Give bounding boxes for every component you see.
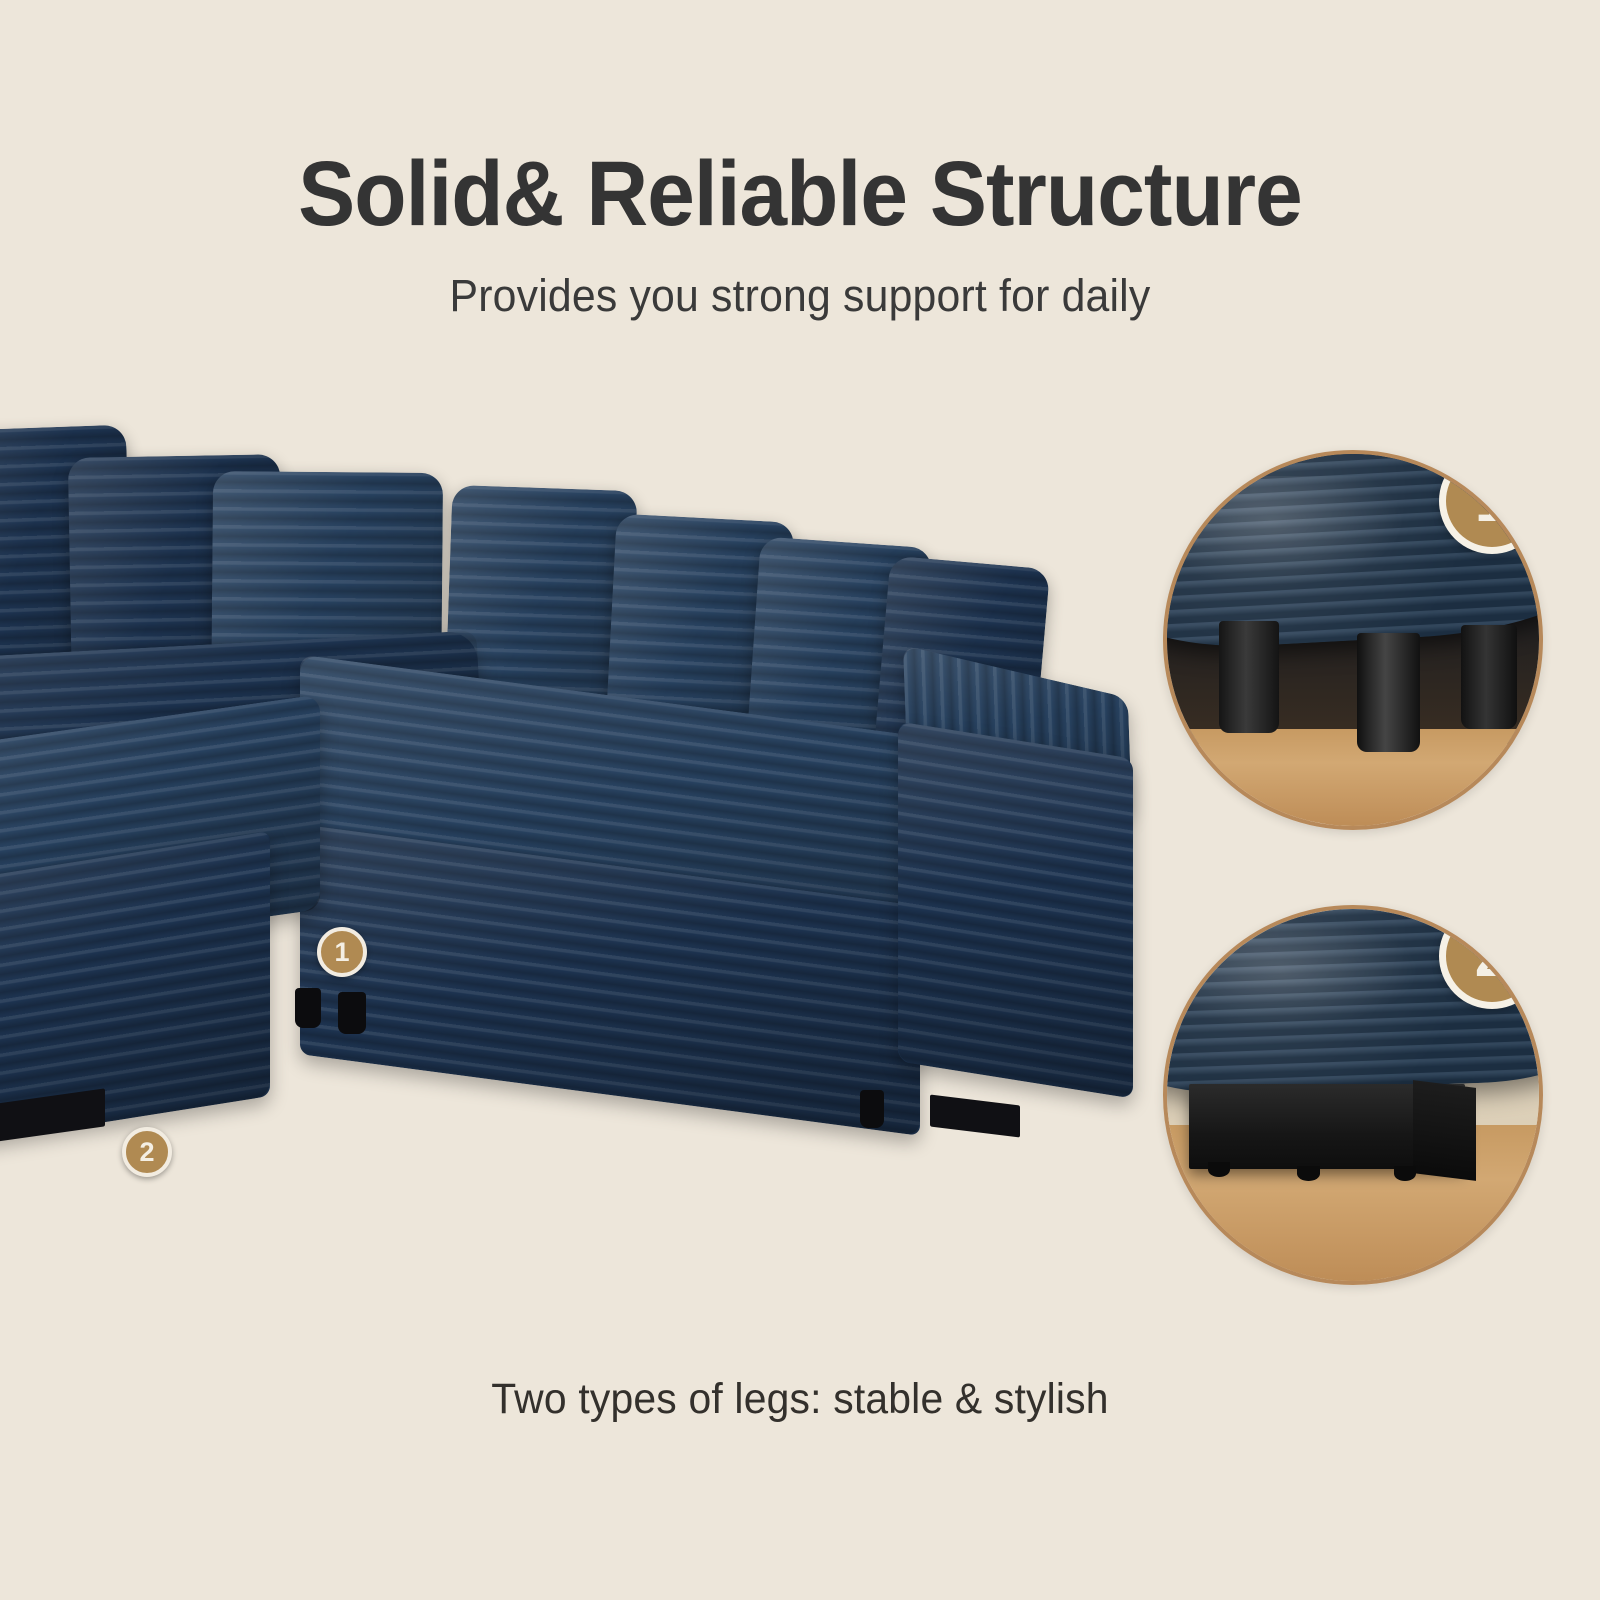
page-subtitle: Provides you strong support for daily — [40, 270, 1560, 322]
badge-label: 1 — [1475, 470, 1509, 532]
detail-circle-cylinder-legs[interactable]: 1 — [1163, 450, 1543, 830]
detail2-number-badge: 2 — [1439, 905, 1543, 1009]
detail2-plinth-side — [1413, 1080, 1476, 1181]
detail1-leg-left — [1219, 621, 1279, 733]
plinth-base-right — [930, 1094, 1020, 1137]
detail2-foot-2 — [1297, 1166, 1319, 1181]
leg-cylinder-1 — [295, 988, 321, 1028]
leg-cylinder-3 — [860, 1090, 884, 1128]
marker-plinth-base[interactable]: 2 — [122, 1127, 172, 1177]
detail1-floor — [1167, 729, 1539, 826]
detail1-fur-highlight — [1182, 476, 1405, 588]
marker-label: 1 — [334, 937, 349, 968]
detail1-number-badge: 1 — [1439, 450, 1543, 554]
leg-cylinder-2 — [338, 992, 366, 1034]
detail2-foot-3 — [1394, 1166, 1416, 1181]
page-title: Solid& Reliable Structure — [56, 148, 1544, 242]
armrest-right-face — [898, 721, 1133, 1098]
marker-label: 2 — [139, 1137, 154, 1168]
detail2-foot-1 — [1208, 1162, 1230, 1177]
detail1-leg-mid — [1357, 633, 1420, 752]
product-infographic: Solid& Reliable Structure Provides you s… — [0, 0, 1600, 1600]
marker-cylinder-legs[interactable]: 1 — [317, 927, 367, 977]
detail-circle-plinth-base[interactable]: 2 — [1163, 905, 1543, 1285]
footer-caption: Two types of legs: stable & stylish — [40, 1375, 1560, 1424]
badge-label: 2 — [1475, 925, 1509, 987]
detail1-leg-right — [1461, 625, 1517, 729]
product-photo — [0, 410, 1160, 1200]
detail2-fur-highlight — [1189, 924, 1420, 1028]
